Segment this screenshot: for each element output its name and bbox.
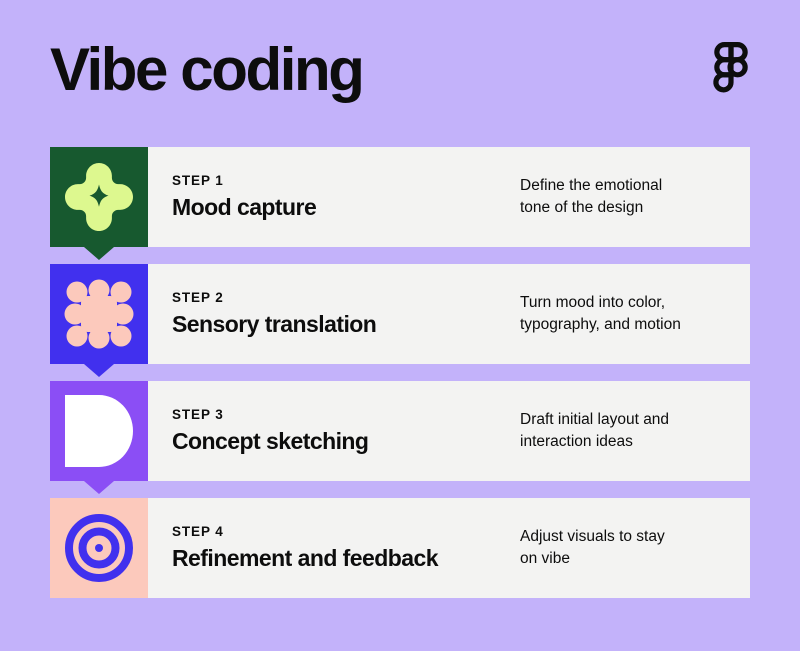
step-kicker: STEP 2 (172, 290, 520, 306)
step-icon-tile (50, 264, 148, 364)
step-description: Adjust visuals to stay on vibe (520, 526, 730, 570)
spiral-swirl-icon (61, 395, 137, 467)
step-body: STEP 2 Sensory translation Turn mood int… (148, 264, 750, 364)
step-kicker: STEP 4 (172, 524, 520, 540)
page-title: Vibe coding (50, 34, 363, 106)
step-text: STEP 4 Refinement and feedback (172, 524, 520, 572)
step-pointer (84, 364, 114, 377)
step-kicker: STEP 1 (172, 173, 520, 189)
step-name: Concept sketching (172, 428, 520, 455)
step-name: Mood capture (172, 194, 520, 221)
step-name: Sensory translation (172, 311, 520, 338)
step-body: STEP 1 Mood capture Define the emotional… (148, 147, 750, 247)
step-row[interactable]: STEP 3 Concept sketching Draft initial l… (50, 381, 750, 481)
step-description: Turn mood into color, typography, and mo… (520, 292, 730, 336)
step-pointer (84, 481, 114, 494)
step-pointer (84, 247, 114, 260)
step-text: STEP 1 Mood capture (172, 173, 520, 221)
step-description: Define the emotional tone of the design (520, 175, 730, 219)
figma-logo (712, 42, 750, 98)
step-row[interactable]: STEP 4 Refinement and feedback Adjust vi… (50, 498, 750, 598)
eight-lobe-blob-icon (64, 279, 134, 349)
step-text: STEP 3 Concept sketching (172, 407, 520, 455)
step-icon-tile (50, 147, 148, 247)
step-row[interactable]: STEP 1 Mood capture Define the emotional… (50, 147, 750, 247)
step-kicker: STEP 3 (172, 407, 520, 423)
step-body: STEP 3 Concept sketching Draft initial l… (148, 381, 750, 481)
step-body: STEP 4 Refinement and feedback Adjust vi… (148, 498, 750, 598)
header: Vibe coding (50, 34, 750, 114)
step-description: Draft initial layout and interaction ide… (520, 409, 730, 453)
quatrefoil-clover-icon (65, 163, 133, 231)
concentric-target-icon (64, 513, 134, 583)
step-row[interactable]: STEP 2 Sensory translation Turn mood int… (50, 264, 750, 364)
step-text: STEP 2 Sensory translation (172, 290, 520, 338)
infographic-poster: Vibe coding (0, 0, 800, 651)
step-icon-tile (50, 381, 148, 481)
step-icon-tile (50, 498, 148, 598)
step-name: Refinement and feedback (172, 545, 520, 572)
steps-list: STEP 1 Mood capture Define the emotional… (50, 147, 750, 598)
